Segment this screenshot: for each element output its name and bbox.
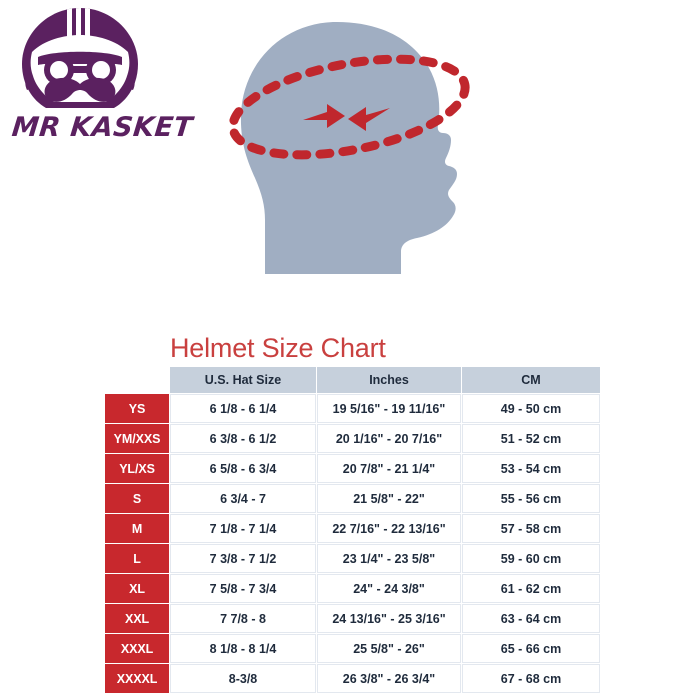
cm-cell: 53 - 54 cm [462,454,600,483]
inches-cell: 25 5/8" - 26" [317,634,461,663]
table-row: XXL7 7/8 - 824 13/16" - 25 3/16"63 - 64 … [105,604,600,633]
cm-cell: 63 - 64 cm [462,604,600,633]
hat-size-cell: 7 1/8 - 7 1/4 [170,514,316,543]
table-row: YS6 1/8 - 6 1/419 5/16" - 19 11/16"49 - … [105,394,600,423]
inches-cell: 20 7/8" - 21 1/4" [317,454,461,483]
table-row: YL/XS6 5/8 - 6 3/420 7/8" - 21 1/4"53 - … [105,454,600,483]
table-header: U.S. Hat Size Inches CM [105,367,600,393]
cm-cell: 55 - 56 cm [462,484,600,513]
inches-cell: 22 7/16" - 22 13/16" [317,514,461,543]
cm-cell: 49 - 50 cm [462,394,600,423]
size-label-cell: L [105,544,169,573]
hat-size-cell: 7 7/8 - 8 [170,604,316,633]
cm-cell: 67 - 68 cm [462,664,600,693]
table-row: L7 3/8 - 7 1/223 1/4" - 23 5/8"59 - 60 c… [105,544,600,573]
inches-cell: 26 3/8" - 26 3/4" [317,664,461,693]
cm-cell: 51 - 52 cm [462,424,600,453]
helmet-size-table-container: U.S. Hat Size Inches CM YS6 1/8 - 6 1/41… [104,366,596,694]
table-body: YS6 1/8 - 6 1/419 5/16" - 19 11/16"49 - … [105,394,600,693]
size-label-cell: XXXXL [105,664,169,693]
hat-size-cell: 6 1/8 - 6 1/4 [170,394,316,423]
column-header-hat-size: U.S. Hat Size [170,367,316,393]
head-profile-measure-illustration [185,2,515,314]
hat-size-cell: 6 3/8 - 6 1/2 [170,424,316,453]
cm-cell: 59 - 60 cm [462,544,600,573]
inches-cell: 23 1/4" - 23 5/8" [317,544,461,573]
table-header-row: U.S. Hat Size Inches CM [105,367,600,393]
table-row: S6 3/4 - 721 5/8" - 22"55 - 56 cm [105,484,600,513]
size-label-cell: XXL [105,604,169,633]
hat-size-cell: 6 5/8 - 6 3/4 [170,454,316,483]
inches-cell: 21 5/8" - 22" [317,484,461,513]
table-row: XXXL8 1/8 - 8 1/425 5/8" - 26"65 - 66 cm [105,634,600,663]
cm-cell: 65 - 66 cm [462,634,600,663]
hat-size-cell: 7 3/8 - 7 1/2 [170,544,316,573]
head-profile-measure-icon [185,2,515,314]
size-label-cell: S [105,484,169,513]
inches-cell: 24 13/16" - 25 3/16" [317,604,461,633]
hat-size-cell: 7 5/8 - 7 3/4 [170,574,316,603]
table-corner-cell [105,367,169,393]
table-row: M7 1/8 - 7 1/422 7/16" - 22 13/16"57 - 5… [105,514,600,543]
helmet-size-table: U.S. Hat Size Inches CM YS6 1/8 - 6 1/41… [104,366,601,694]
brand-wordmark: MR KASKET [10,112,163,143]
page-title: Helmet Size Chart [170,333,386,364]
hat-size-cell: 8-3/8 [170,664,316,693]
inches-cell: 24" - 24 3/8" [317,574,461,603]
helmet-goggles-mustache-icon [8,4,168,119]
size-label-cell: XL [105,574,169,603]
size-label-cell: YS [105,394,169,423]
brand-logo: MR KASKET [8,4,168,154]
column-header-inches: Inches [317,367,461,393]
inches-cell: 19 5/16" - 19 11/16" [317,394,461,423]
cm-cell: 61 - 62 cm [462,574,600,603]
table-row: XL7 5/8 - 7 3/424" - 24 3/8"61 - 62 cm [105,574,600,603]
size-label-cell: XXXL [105,634,169,663]
hat-size-cell: 6 3/4 - 7 [170,484,316,513]
size-label-cell: YL/XS [105,454,169,483]
size-label-cell: M [105,514,169,543]
cm-cell: 57 - 58 cm [462,514,600,543]
column-header-cm: CM [462,367,600,393]
inches-cell: 20 1/16" - 20 7/16" [317,424,461,453]
table-row: XXXXL8-3/826 3/8" - 26 3/4"67 - 68 cm [105,664,600,693]
table-row: YM/XXS6 3/8 - 6 1/220 1/16" - 20 7/16"51… [105,424,600,453]
hat-size-cell: 8 1/8 - 8 1/4 [170,634,316,663]
size-label-cell: YM/XXS [105,424,169,453]
